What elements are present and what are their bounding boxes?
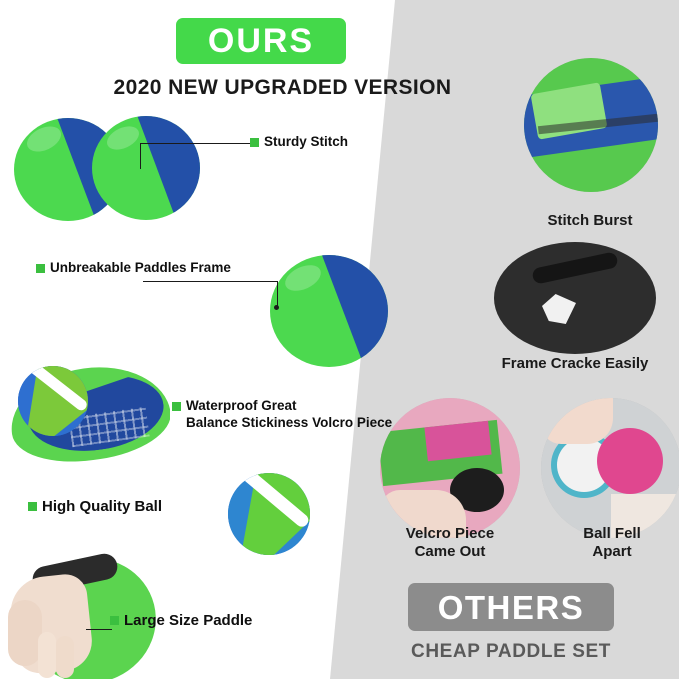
- ball-photo-standalone: [228, 473, 310, 555]
- callout-large-size-paddle: Large Size Paddle: [110, 612, 252, 631]
- leader-line-sturdy-stitch-drop: [140, 143, 141, 169]
- callout-label: High Quality Ball: [42, 498, 162, 517]
- callout-waterproof-velcro: Waterproof Great Balance Stickiness Volc…: [172, 398, 392, 432]
- bullet-icon: [250, 138, 259, 147]
- stitch-burst-photo: [524, 58, 658, 192]
- callout-label: Unbreakable Paddles Frame: [50, 260, 231, 277]
- callout-unbreakable-frame: Unbreakable Paddles Frame: [36, 260, 231, 277]
- leader-line-sturdy-stitch: [140, 143, 250, 144]
- paddle-photo-top-right: [92, 116, 200, 220]
- callout-label: Sturdy Stitch: [264, 134, 348, 151]
- frame-crack-photo: [494, 242, 656, 354]
- bullet-icon: [36, 264, 45, 273]
- velcro-came-out-photo: [380, 398, 520, 538]
- leader-line-unbreakable-frame: [143, 281, 277, 282]
- callout-sturdy-stitch: Sturdy Stitch: [250, 134, 348, 151]
- ours-banner-label: OURS: [208, 24, 314, 58]
- comparison-infographic: OURS 2020 NEW UPGRADED VERSION OTHERS CH…: [0, 0, 679, 679]
- caption-ball-fell-apart: Ball Fell Apart: [540, 525, 679, 561]
- ball-photo-on-paddle: [18, 366, 88, 436]
- others-banner: OTHERS: [408, 583, 614, 631]
- callout-high-quality-ball: High Quality Ball: [28, 498, 162, 517]
- others-subtitle: CHEAP PADDLE SET: [383, 641, 639, 663]
- callout-label: Large Size Paddle: [124, 612, 252, 631]
- others-banner-label: OTHERS: [438, 591, 585, 624]
- ours-subtitle: 2020 NEW UPGRADED VERSION: [110, 76, 455, 100]
- caption-stitch-burst: Stitch Burst: [515, 212, 665, 230]
- bullet-icon: [172, 402, 181, 411]
- ours-banner: OURS: [176, 18, 346, 64]
- callout-label: Waterproof Great Balance Stickiness Volc…: [186, 398, 392, 432]
- ball-fell-apart-photo: [541, 398, 679, 538]
- caption-velcro-piece-came-out: Velcro Piece Came Out: [372, 525, 528, 561]
- bullet-icon: [110, 616, 119, 625]
- leader-line-unbreakable-frame-drop: [277, 281, 278, 307]
- caption-frame-cracke-easily: Frame Cracke Easily: [462, 355, 679, 373]
- bullet-icon: [28, 502, 37, 511]
- leader-line-large-size-paddle: [86, 629, 112, 630]
- paddle-photo-middle: [270, 255, 388, 367]
- hand-with-paddle-photo: [6, 540, 166, 679]
